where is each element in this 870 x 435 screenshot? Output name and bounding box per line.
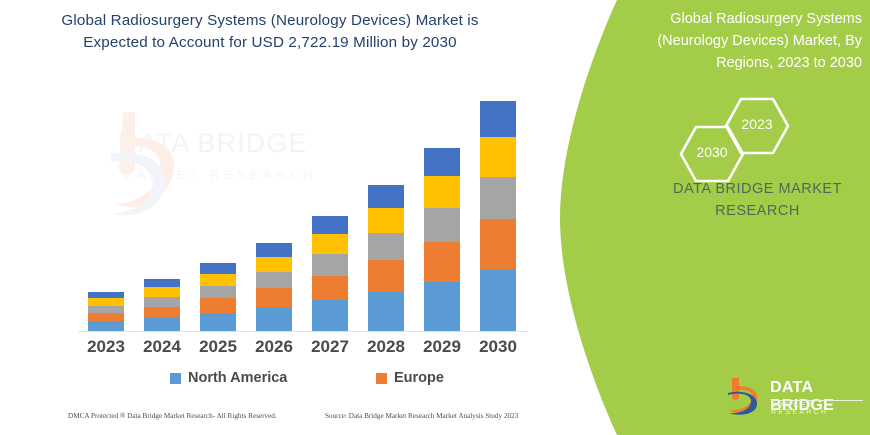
right-panel-brand: DATA BRIDGE MARKET RESEARCH (650, 178, 865, 223)
right-panel-title-line-3: Regions, 2023 to 2030 (640, 52, 862, 74)
right-panel-title-line-1: Global Radiosurgery Systems (640, 8, 862, 30)
hexagon-2030: 2030 (679, 124, 745, 184)
databridge-logo-icon (726, 376, 766, 416)
right-panel-brand-line-1: DATA BRIDGE MARKET (650, 178, 865, 200)
infographic-root: Global Radiosurgery Systems (Neurology D… (0, 0, 870, 435)
right-panel-title: Global Radiosurgery Systems (Neurology D… (640, 8, 862, 74)
databridge-logo-divider (771, 400, 863, 401)
right-panel-content: Global Radiosurgery Systems (Neurology D… (0, 0, 870, 435)
databridge-logo-subtitle: MARKET RESEARCH (771, 402, 866, 416)
right-panel-brand-line-2: RESEARCH (650, 200, 865, 222)
hexagon-2030-label: 2030 (679, 144, 745, 160)
databridge-logo: DATA BRIDGE MARKET RESEARCH (726, 374, 866, 420)
right-panel-title-line-2: (Neurology Devices) Market, By (640, 30, 862, 52)
